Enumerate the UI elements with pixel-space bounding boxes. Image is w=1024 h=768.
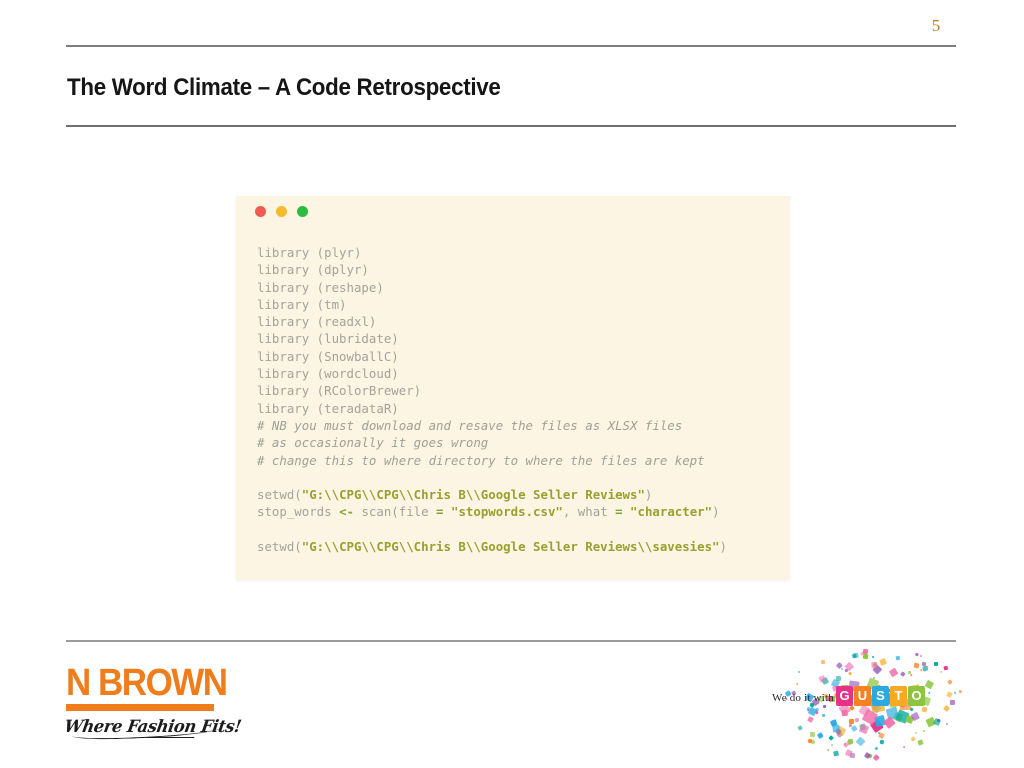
code-token-op: =: [615, 504, 622, 519]
gusto-tile-t: T: [890, 686, 907, 706]
code-token-comment: # change this to where directory to wher…: [257, 453, 705, 468]
code-token-str: "character": [630, 504, 712, 519]
code-line: library (dplyr): [257, 261, 782, 278]
header-divider-bottom: [66, 125, 956, 127]
minimize-dot-icon[interactable]: [276, 206, 287, 217]
code-token-comment: # as occasionally it goes wrong: [257, 435, 488, 450]
code-token-id: library (plyr): [257, 245, 361, 260]
code-token-op: <-: [339, 504, 354, 519]
code-token-plain: scan(file: [354, 504, 436, 519]
code-token-comment: # NB you must download and resave the fi…: [257, 418, 682, 433]
window-controls: [255, 206, 308, 217]
code-token-id: library (teradataR): [257, 401, 399, 416]
code-token-id: library (reshape): [257, 280, 384, 295]
close-dot-icon[interactable]: [255, 206, 266, 217]
code-token-id: library (readxl): [257, 314, 376, 329]
code-line: # change this to where directory to wher…: [257, 452, 782, 469]
code-token-plain: setwd(: [257, 487, 302, 502]
code-block-card: library (plyr)library (dplyr)library (re…: [236, 196, 790, 580]
code-line: # as occasionally it goes wrong: [257, 434, 782, 451]
page-title: The Word Climate – A Code Retrospective: [67, 74, 867, 102]
code-token-id: library (lubridate): [257, 331, 399, 346]
gusto-lead-text: We do it with: [772, 692, 834, 704]
gusto-logo: We do it with GUSTO: [760, 648, 975, 760]
code-token-plain: stop_words: [257, 504, 339, 519]
code-token-str: "G:\\CPG\\CPG\\Chris B\\Google Seller Re…: [302, 539, 720, 554]
gusto-tile-o: O: [908, 686, 925, 706]
code-token-str: "G:\\CPG\\CPG\\Chris B\\Google Seller Re…: [302, 487, 645, 502]
code-token-plain: ): [720, 539, 727, 554]
nbrown-logo: N BROWN Where Fashion Fits!: [66, 663, 296, 748]
page-number: 5: [918, 16, 954, 36]
code-token-plain: , what: [563, 504, 615, 519]
code-token-plain: setwd(: [257, 539, 302, 554]
code-token-plain: [623, 504, 630, 519]
code-line: setwd("G:\\CPG\\CPG\\Chris B\\Google Sel…: [257, 538, 782, 555]
nbrown-wordmark: N BROWN: [66, 663, 278, 703]
code-line: library (teradataR): [257, 400, 782, 417]
code-line: [257, 521, 782, 538]
code-content: library (plyr)library (dplyr)library (re…: [257, 244, 782, 555]
code-line: library (RColorBrewer): [257, 382, 782, 399]
gusto-tile-g: G: [836, 686, 853, 706]
code-token-str: "stopwords.csv": [451, 504, 563, 519]
code-line: [257, 469, 782, 486]
code-token-plain: ): [645, 487, 652, 502]
code-line: library (plyr): [257, 244, 782, 261]
code-line: library (SnowballC): [257, 348, 782, 365]
code-token-id: library (tm): [257, 297, 347, 312]
code-line: setwd("G:\\CPG\\CPG\\Chris B\\Google Sel…: [257, 486, 782, 503]
code-line: library (tm): [257, 296, 782, 313]
maximize-dot-icon[interactable]: [297, 206, 308, 217]
code-line: # NB you must download and resave the fi…: [257, 417, 782, 434]
code-token-id: library (dplyr): [257, 262, 369, 277]
code-token-plain: [444, 504, 451, 519]
code-token-plain: ): [712, 504, 719, 519]
code-token-id: library (wordcloud): [257, 366, 399, 381]
footer-divider: [66, 640, 956, 642]
code-token-op: =: [436, 504, 443, 519]
code-token-id: library (SnowballC): [257, 349, 399, 364]
code-line: library (wordcloud): [257, 365, 782, 382]
gusto-tile-u: U: [854, 686, 871, 706]
code-token-id: library (RColorBrewer): [257, 383, 421, 398]
gusto-letter-tiles: GUSTO: [836, 686, 925, 706]
nbrown-underline-bar: [66, 704, 214, 711]
gusto-tile-s: S: [872, 686, 889, 706]
code-line: library (readxl): [257, 313, 782, 330]
code-line: library (reshape): [257, 279, 782, 296]
slide-canvas: 5 The Word Climate – A Code Retrospectiv…: [0, 0, 1024, 768]
header-divider-top: [66, 45, 956, 47]
code-line: stop_words <- scan(file = "stopwords.csv…: [257, 503, 782, 520]
code-line: library (lubridate): [257, 330, 782, 347]
